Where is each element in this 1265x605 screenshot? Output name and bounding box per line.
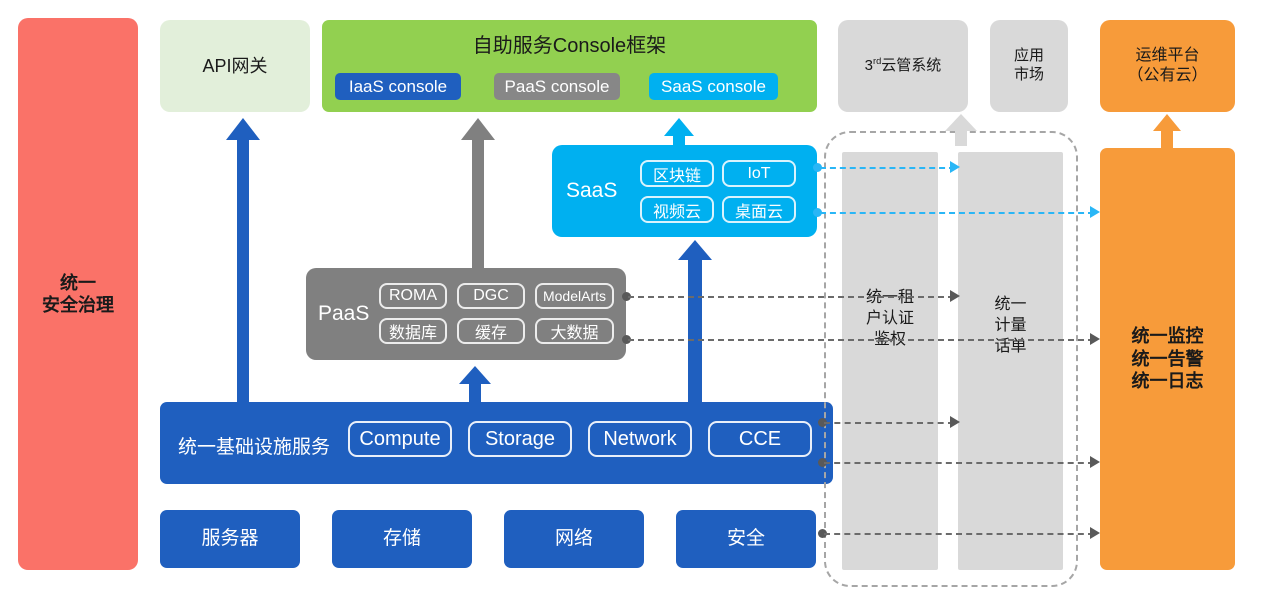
paas-item-modelarts[interactable]: ModelArts	[535, 283, 614, 309]
unified-security-governance-label: 统一 安全治理	[42, 272, 114, 317]
unified-infrastructure-service-label: 统一基础设施服务	[178, 432, 338, 459]
app-market-line-2: 市场	[1014, 66, 1044, 85]
hardware-security-label: 安全	[727, 527, 765, 551]
connector-infra-to-ops	[824, 462, 1094, 464]
infra-item-compute-label: Compute	[359, 428, 440, 451]
saas-layer-label: SaaS	[566, 179, 626, 203]
ops-column-line-3: 统一日志	[1132, 370, 1204, 393]
arrow-infra-to-saas	[678, 240, 712, 404]
iaas-console-chip[interactable]: IaaS console	[335, 73, 461, 100]
ops-monitoring-column: 统一监控 统一告警 统一日志	[1100, 148, 1235, 570]
connector-arrowhead-saas-2	[1090, 206, 1100, 218]
connector-hardware-to-ops	[824, 533, 1094, 535]
iaas-console-label: IaaS console	[349, 77, 447, 97]
metering-line-2: 计量	[958, 315, 1063, 336]
app-market-line-1: 应用	[1014, 47, 1044, 66]
ops-platform-line-2: （公有云）	[1127, 66, 1207, 86]
security-line-1: 统一	[42, 272, 114, 295]
saas-console-chip[interactable]: SaaS console	[649, 73, 778, 100]
tenant-auth-line-2: 户认证	[842, 308, 938, 329]
third-party-cloud-management-label: 3rd云管系统	[865, 56, 942, 76]
saas-item-video-cloud[interactable]: 视频云	[640, 196, 714, 223]
hardware-card-server: 服务器	[160, 510, 300, 568]
infra-item-cce-label: CCE	[739, 428, 781, 451]
connector-infra-to-metering	[824, 422, 954, 424]
paas-console-label: PaaS console	[505, 77, 610, 97]
ops-platform-label: 运维平台 （公有云）	[1127, 46, 1207, 86]
architecture-diagram: 统一 安全治理 API网关 自助服务Console框架 IaaS console…	[0, 0, 1265, 605]
hardware-card-network: 网络	[504, 510, 644, 568]
saas-console-label: SaaS console	[661, 77, 766, 97]
hardware-network-label: 网络	[555, 527, 593, 551]
security-line-2: 安全治理	[42, 294, 114, 317]
paas-layer-label: PaaS	[318, 302, 388, 326]
hardware-card-storage: 存储	[332, 510, 472, 568]
infra-item-compute[interactable]: Compute	[348, 421, 452, 457]
infra-item-cce[interactable]: CCE	[708, 421, 812, 457]
paas-item-roma[interactable]: ROMA	[379, 283, 447, 309]
arrow-infra-to-paas	[458, 366, 492, 404]
unified-metering-billing-column	[958, 152, 1063, 570]
arrow-ops-column-to-ops-platform	[1152, 114, 1182, 148]
ops-column-label: 统一监控 统一告警 统一日志	[1132, 325, 1204, 393]
saas-item-iot[interactable]: IoT	[722, 160, 796, 187]
console-framework-title: 自助服务Console框架	[473, 34, 666, 59]
hardware-card-security: 安全	[676, 510, 816, 568]
infra-item-network-label: Network	[603, 428, 676, 451]
ops-platform-line-1: 运维平台	[1127, 46, 1207, 66]
saas-item-blockchain-label: 区块链	[653, 162, 701, 186]
paas-item-database-label: 数据库	[389, 319, 437, 343]
arrow-paas-to-console	[461, 118, 495, 270]
connector-saas-to-metering	[820, 167, 955, 169]
connector-paas-to-ops	[628, 339, 1094, 341]
connector-arrowhead-paas-1	[950, 290, 960, 302]
ops-column-line-1: 统一监控	[1132, 325, 1204, 348]
paas-item-cache-label: 缓存	[475, 319, 507, 343]
saas-item-iot-label: IoT	[747, 165, 770, 183]
api-gateway-card: API网关	[160, 20, 310, 112]
connector-arrowhead-hardware	[1090, 527, 1100, 539]
saas-item-blockchain[interactable]: 区块链	[640, 160, 714, 187]
paas-item-bigdata[interactable]: 大数据	[535, 318, 614, 344]
paas-item-database[interactable]: 数据库	[379, 318, 447, 344]
infra-item-network[interactable]: Network	[588, 421, 692, 457]
connector-paas-to-tenant-auth	[628, 296, 954, 298]
paas-item-cache[interactable]: 缓存	[457, 318, 525, 344]
paas-item-modelarts-label: ModelArts	[543, 288, 606, 304]
connector-arrowhead-saas-1	[950, 161, 960, 173]
paas-item-bigdata-label: 大数据	[550, 319, 598, 343]
ops-platform-card: 运维平台 （公有云）	[1100, 20, 1235, 112]
paas-item-roma-label: ROMA	[389, 287, 437, 305]
arrow-shared-services-to-cloud-management	[944, 114, 978, 146]
hardware-storage-label: 存储	[383, 527, 421, 551]
api-gateway-label: API网关	[202, 55, 267, 78]
saas-item-desktop-cloud[interactable]: 桌面云	[722, 196, 796, 223]
arrow-saas-to-console	[664, 118, 694, 148]
app-market-label: 应用 市场	[1014, 47, 1044, 85]
connector-arrowhead-paas-2	[1090, 333, 1100, 345]
unified-metering-billing-label: 统一 计量 话单	[958, 294, 1063, 357]
metering-line-1: 统一	[958, 294, 1063, 315]
ops-column-line-2: 统一告警	[1132, 348, 1204, 371]
paas-item-dgc-label: DGC	[473, 287, 509, 305]
third-party-cloud-management-card: 3rd云管系统	[838, 20, 968, 112]
connector-saas-to-ops	[820, 212, 1094, 214]
saas-item-desktop-cloud-label: 桌面云	[735, 198, 783, 222]
unified-security-governance-panel: 统一 安全治理	[18, 18, 138, 570]
hardware-server-label: 服务器	[201, 527, 258, 551]
unified-tenant-auth-column	[842, 152, 938, 570]
arrow-infra-to-api-gateway	[226, 118, 260, 404]
saas-item-video-cloud-label: 视频云	[653, 198, 701, 222]
infra-item-storage-label: Storage	[485, 428, 555, 451]
connector-arrowhead-infra-1	[950, 416, 960, 428]
infra-item-storage[interactable]: Storage	[468, 421, 572, 457]
app-market-card: 应用 市场	[990, 20, 1068, 112]
connector-arrowhead-infra-2	[1090, 456, 1100, 468]
paas-console-chip[interactable]: PaaS console	[494, 73, 620, 100]
paas-item-dgc[interactable]: DGC	[457, 283, 525, 309]
